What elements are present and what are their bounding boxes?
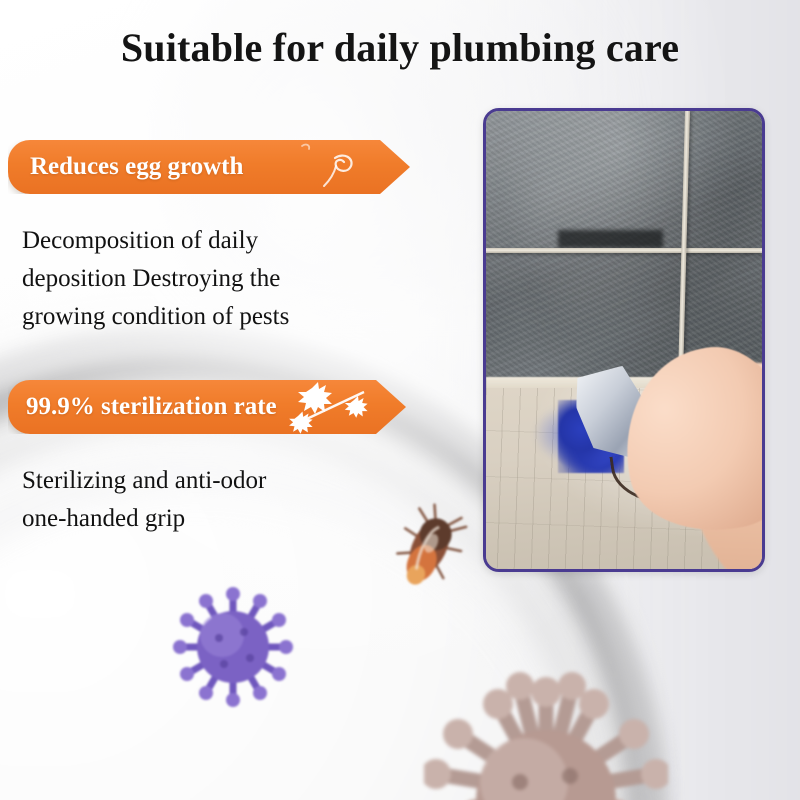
feature-banner-label: 99.9% sterilization rate: [26, 393, 277, 421]
virus-purple-graphic: [172, 586, 294, 708]
feature-description-sterilization: Sterilizing and anti-odor one-handed gri…: [22, 462, 352, 538]
page-title: Suitable for daily plumbing care: [0, 24, 800, 71]
product-usage-photo[interactable]: [483, 108, 765, 572]
product-feature-poster: Suitable for daily plumbing care Reduces…: [0, 0, 800, 800]
photo-grout-horizontal: [486, 248, 762, 253]
worm-larva-icon: [294, 140, 368, 194]
photo-wall-shadow: [558, 230, 663, 248]
feature-banner-egg-growth[interactable]: Reduces egg growth: [8, 140, 410, 194]
feature-banner-label: Reduces egg growth: [30, 153, 243, 181]
germ-splat-cluster-icon: [282, 380, 378, 434]
feature-description-egg-growth: Decomposition of daily deposition Destro…: [22, 222, 352, 336]
feature-banner-sterilization[interactable]: 99.9% sterilization rate: [8, 380, 406, 434]
virus-tan-graphic: [424, 664, 668, 800]
